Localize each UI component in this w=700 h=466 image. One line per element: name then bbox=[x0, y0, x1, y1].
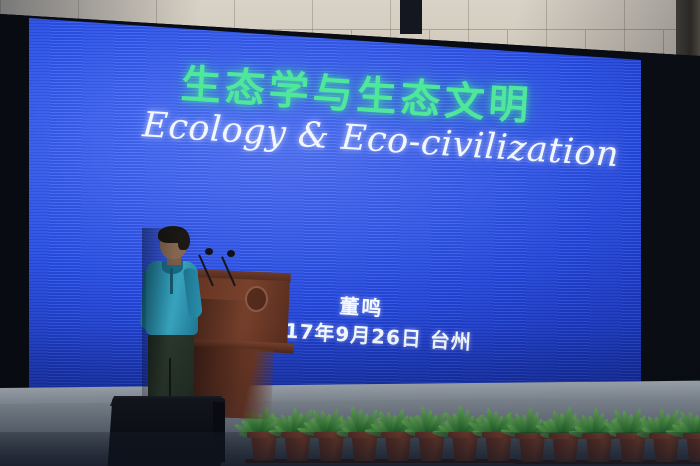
screen-right-black-band bbox=[641, 0, 700, 400]
microphone-head-right bbox=[227, 250, 235, 257]
screen-blue-panel bbox=[0, 0, 700, 400]
screen-left-black-band bbox=[0, 0, 29, 400]
screen-scanlines bbox=[0, 0, 700, 400]
led-display-screen: 生态学与生态文明 Ecology & Eco-civilization 董鸣 2… bbox=[0, 0, 700, 400]
conference-stage-photo: 生态学与生态文明 Ecology & Eco-civilization 董鸣 2… bbox=[0, 0, 700, 466]
presenter-shirt-placket bbox=[170, 268, 173, 294]
presenter-hair-side bbox=[178, 230, 190, 250]
presenter bbox=[142, 228, 212, 413]
screen-vignette bbox=[0, 0, 700, 400]
floor-foreground-shadow bbox=[0, 432, 700, 466]
